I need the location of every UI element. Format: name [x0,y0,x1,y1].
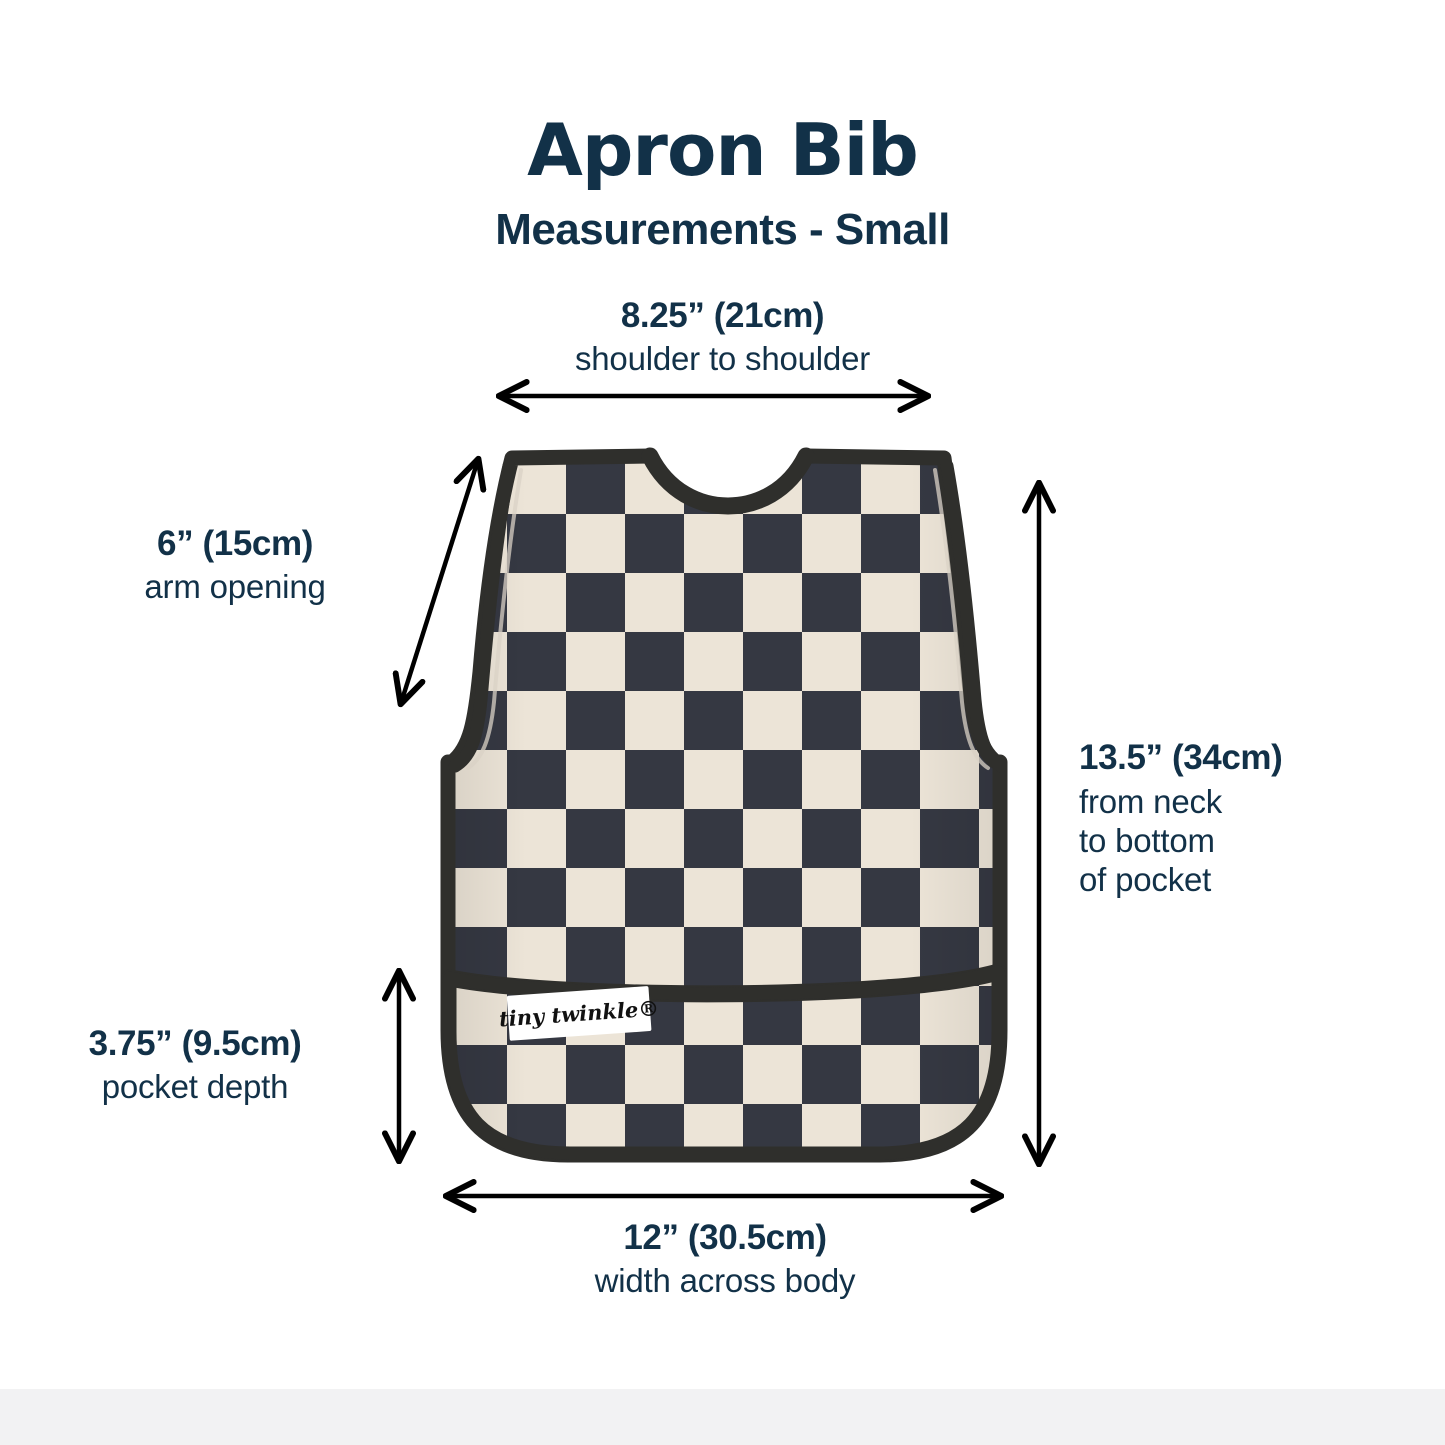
measurement-desc-width: width across body [430,1263,1020,1300]
measurement-value-width: 12” (30.5cm) [430,1218,1020,1257]
measurement-desc-arm-opening: arm opening [60,569,410,606]
measurement-desc-neck-to-pocket-line2: to bottom [1079,823,1399,860]
measurement-value-arm-opening: 6” (15cm) [60,524,410,563]
measurement-desc-shoulder: shoulder to shoulder [0,341,1445,378]
measurement-label-neck-to-pocket: 13.5” (34cm) from neck to bottom of pock… [1079,738,1399,899]
measurement-value-neck-to-pocket: 13.5” (34cm) [1079,738,1399,777]
measurement-desc-neck-to-pocket-line1: from neck [1079,784,1399,821]
measurement-diagram-page: Apron Bib Measurements - Small [0,0,1445,1445]
measurement-value-shoulder: 8.25” (21cm) [0,296,1445,335]
measurement-desc-pocket-depth: pocket depth [20,1069,370,1106]
measurement-label-pocket-depth: 3.75” (9.5cm) pocket depth [20,1024,370,1106]
measurement-value-pocket-depth: 3.75” (9.5cm) [20,1024,370,1063]
measurement-label-shoulder: 8.25” (21cm) shoulder to shoulder [0,296,1445,378]
measurement-label-width: 12” (30.5cm) width across body [430,1218,1020,1300]
measurement-label-arm-opening: 6” (15cm) arm opening [60,524,410,606]
measurement-desc-neck-to-pocket-line3: of pocket [1079,862,1399,899]
